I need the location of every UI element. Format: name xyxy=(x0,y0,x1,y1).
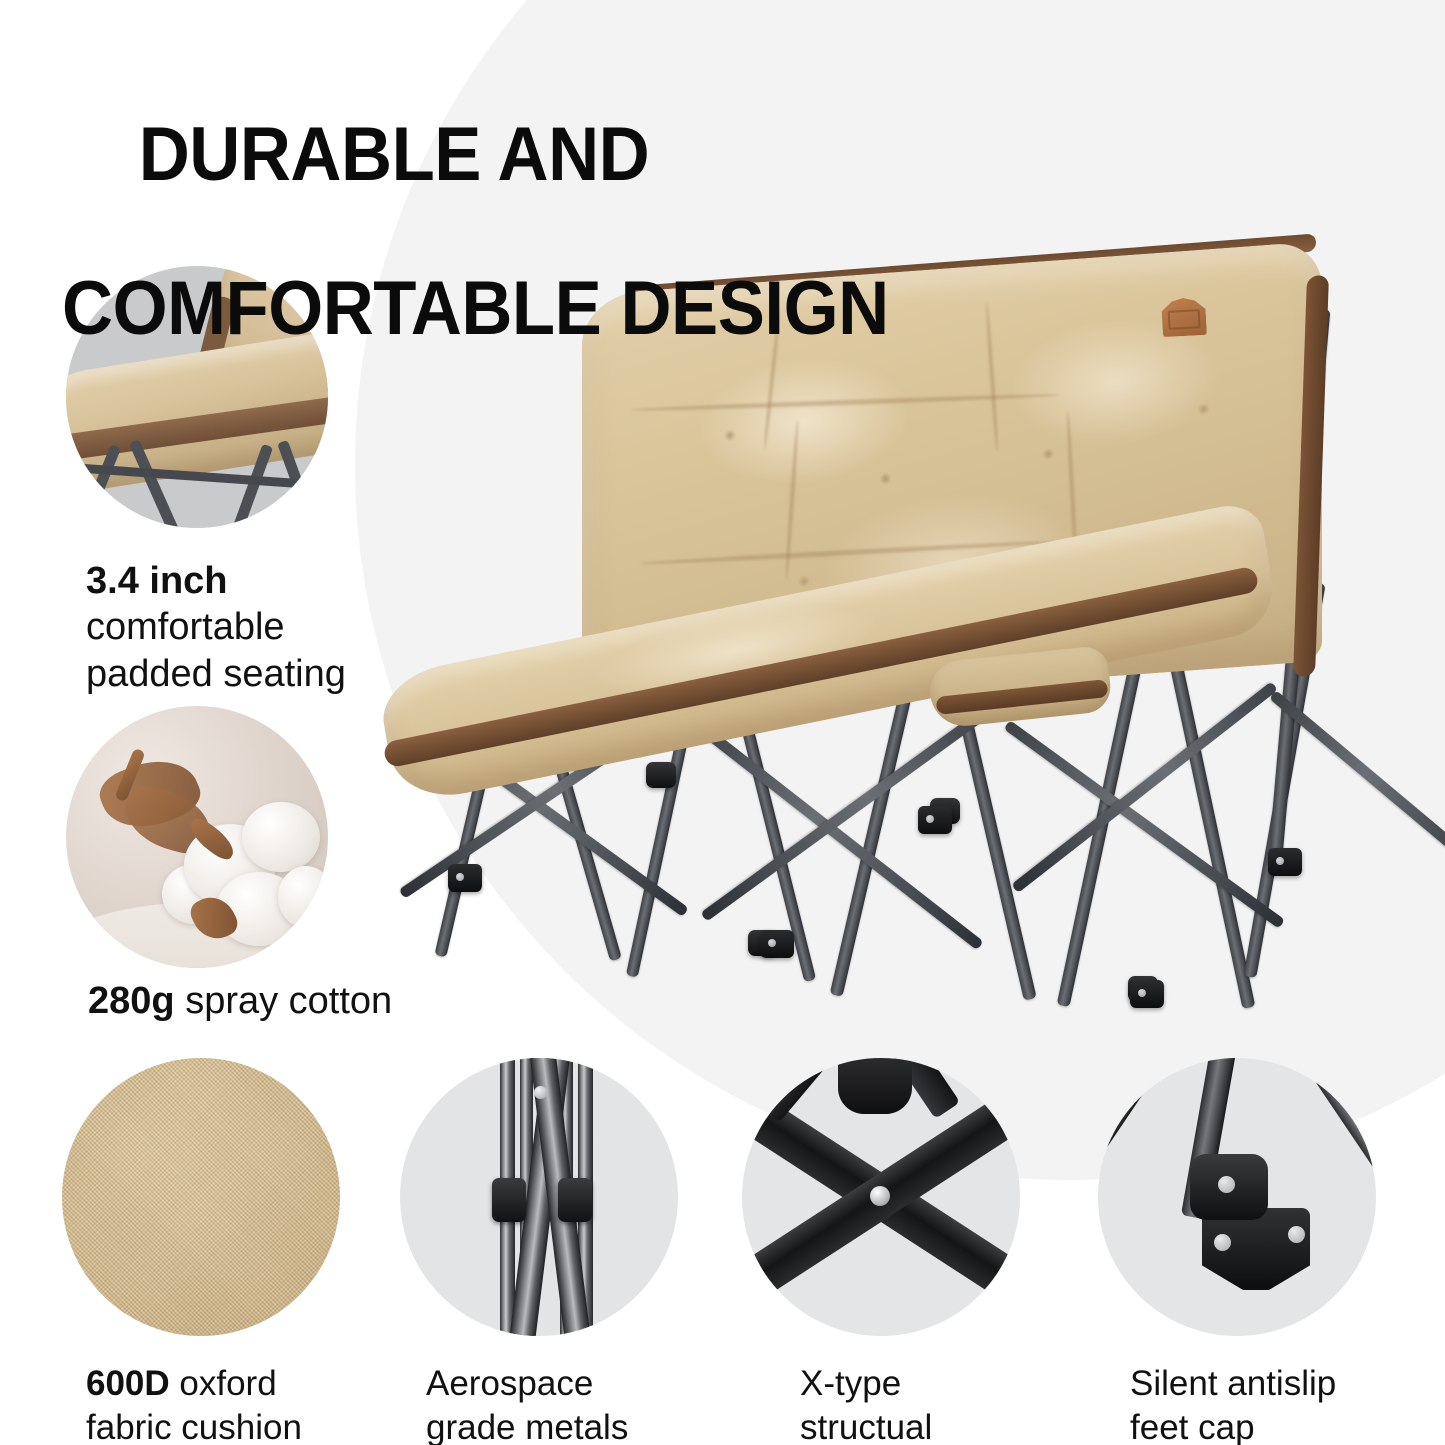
padded-seating-label: 3.4 inch comfortable padded seating xyxy=(86,558,416,697)
oxford-fabric-label: 600D oxford fabric cushion xyxy=(86,1362,386,1445)
aerospace-metals-text: Aerospace grade metals xyxy=(426,1364,628,1445)
cotton-boll xyxy=(242,802,320,872)
antislip-foot-cap xyxy=(1130,980,1164,1008)
padded-seating-text: comfortable padded seating xyxy=(86,606,346,694)
antislip-feet-photo xyxy=(1098,1058,1376,1336)
antislip-feet-text: Silent antislip feet cap xyxy=(1130,1364,1336,1445)
cotton-photo xyxy=(66,706,328,968)
aerospace-metals-label: Aerospace grade metals xyxy=(426,1362,726,1445)
oxford-fabric-photo xyxy=(62,1058,340,1336)
rivet-icon xyxy=(870,1186,890,1206)
spray-cotton-label: 280g spray cotton xyxy=(88,978,448,1024)
frame-bar xyxy=(1162,625,1256,1009)
antislip-foot-cap xyxy=(918,806,952,834)
x-type-structure-label: X-type structual xyxy=(800,1362,1100,1445)
rivet-icon xyxy=(1288,1226,1305,1243)
oxford-fabric-value: 600D xyxy=(86,1364,170,1403)
title-line-2: COMFORTABLE DESIGN xyxy=(62,273,889,346)
cotton-boll xyxy=(278,866,328,928)
page-title: DURABLE AND COMFORTABLE DESIGN xyxy=(62,46,889,492)
aerospace-metals-photo xyxy=(400,1058,678,1336)
x-type-structure-photo xyxy=(742,1058,1020,1336)
rivet-icon xyxy=(1218,1176,1235,1193)
plastic-clip xyxy=(492,1178,526,1222)
spray-cotton-value: 280g xyxy=(88,980,175,1022)
rivet-icon xyxy=(1214,1234,1231,1251)
padded-seating-value: 3.4 inch xyxy=(86,560,228,602)
spray-cotton-text: spray cotton xyxy=(185,980,392,1022)
frame-diagonal xyxy=(693,720,983,950)
frame-joint xyxy=(646,762,676,788)
frame-diagonal xyxy=(1004,720,1286,929)
x-type-structure-text: X-type structual xyxy=(800,1364,932,1445)
antislip-foot-cap xyxy=(448,864,482,892)
antislip-foot-cap xyxy=(1268,848,1302,876)
rivet-icon xyxy=(534,1086,547,1099)
frame-hub xyxy=(838,1058,912,1114)
title-line-1: DURABLE AND xyxy=(139,112,650,197)
infographic-canvas: DURABLE AND COMFORTABLE DESIGN 3.4 inch … xyxy=(0,0,1445,1445)
plastic-clip xyxy=(558,1178,592,1222)
antislip-foot-cap xyxy=(760,930,794,958)
antislip-feet-label: Silent antislip feet cap xyxy=(1130,1362,1440,1445)
